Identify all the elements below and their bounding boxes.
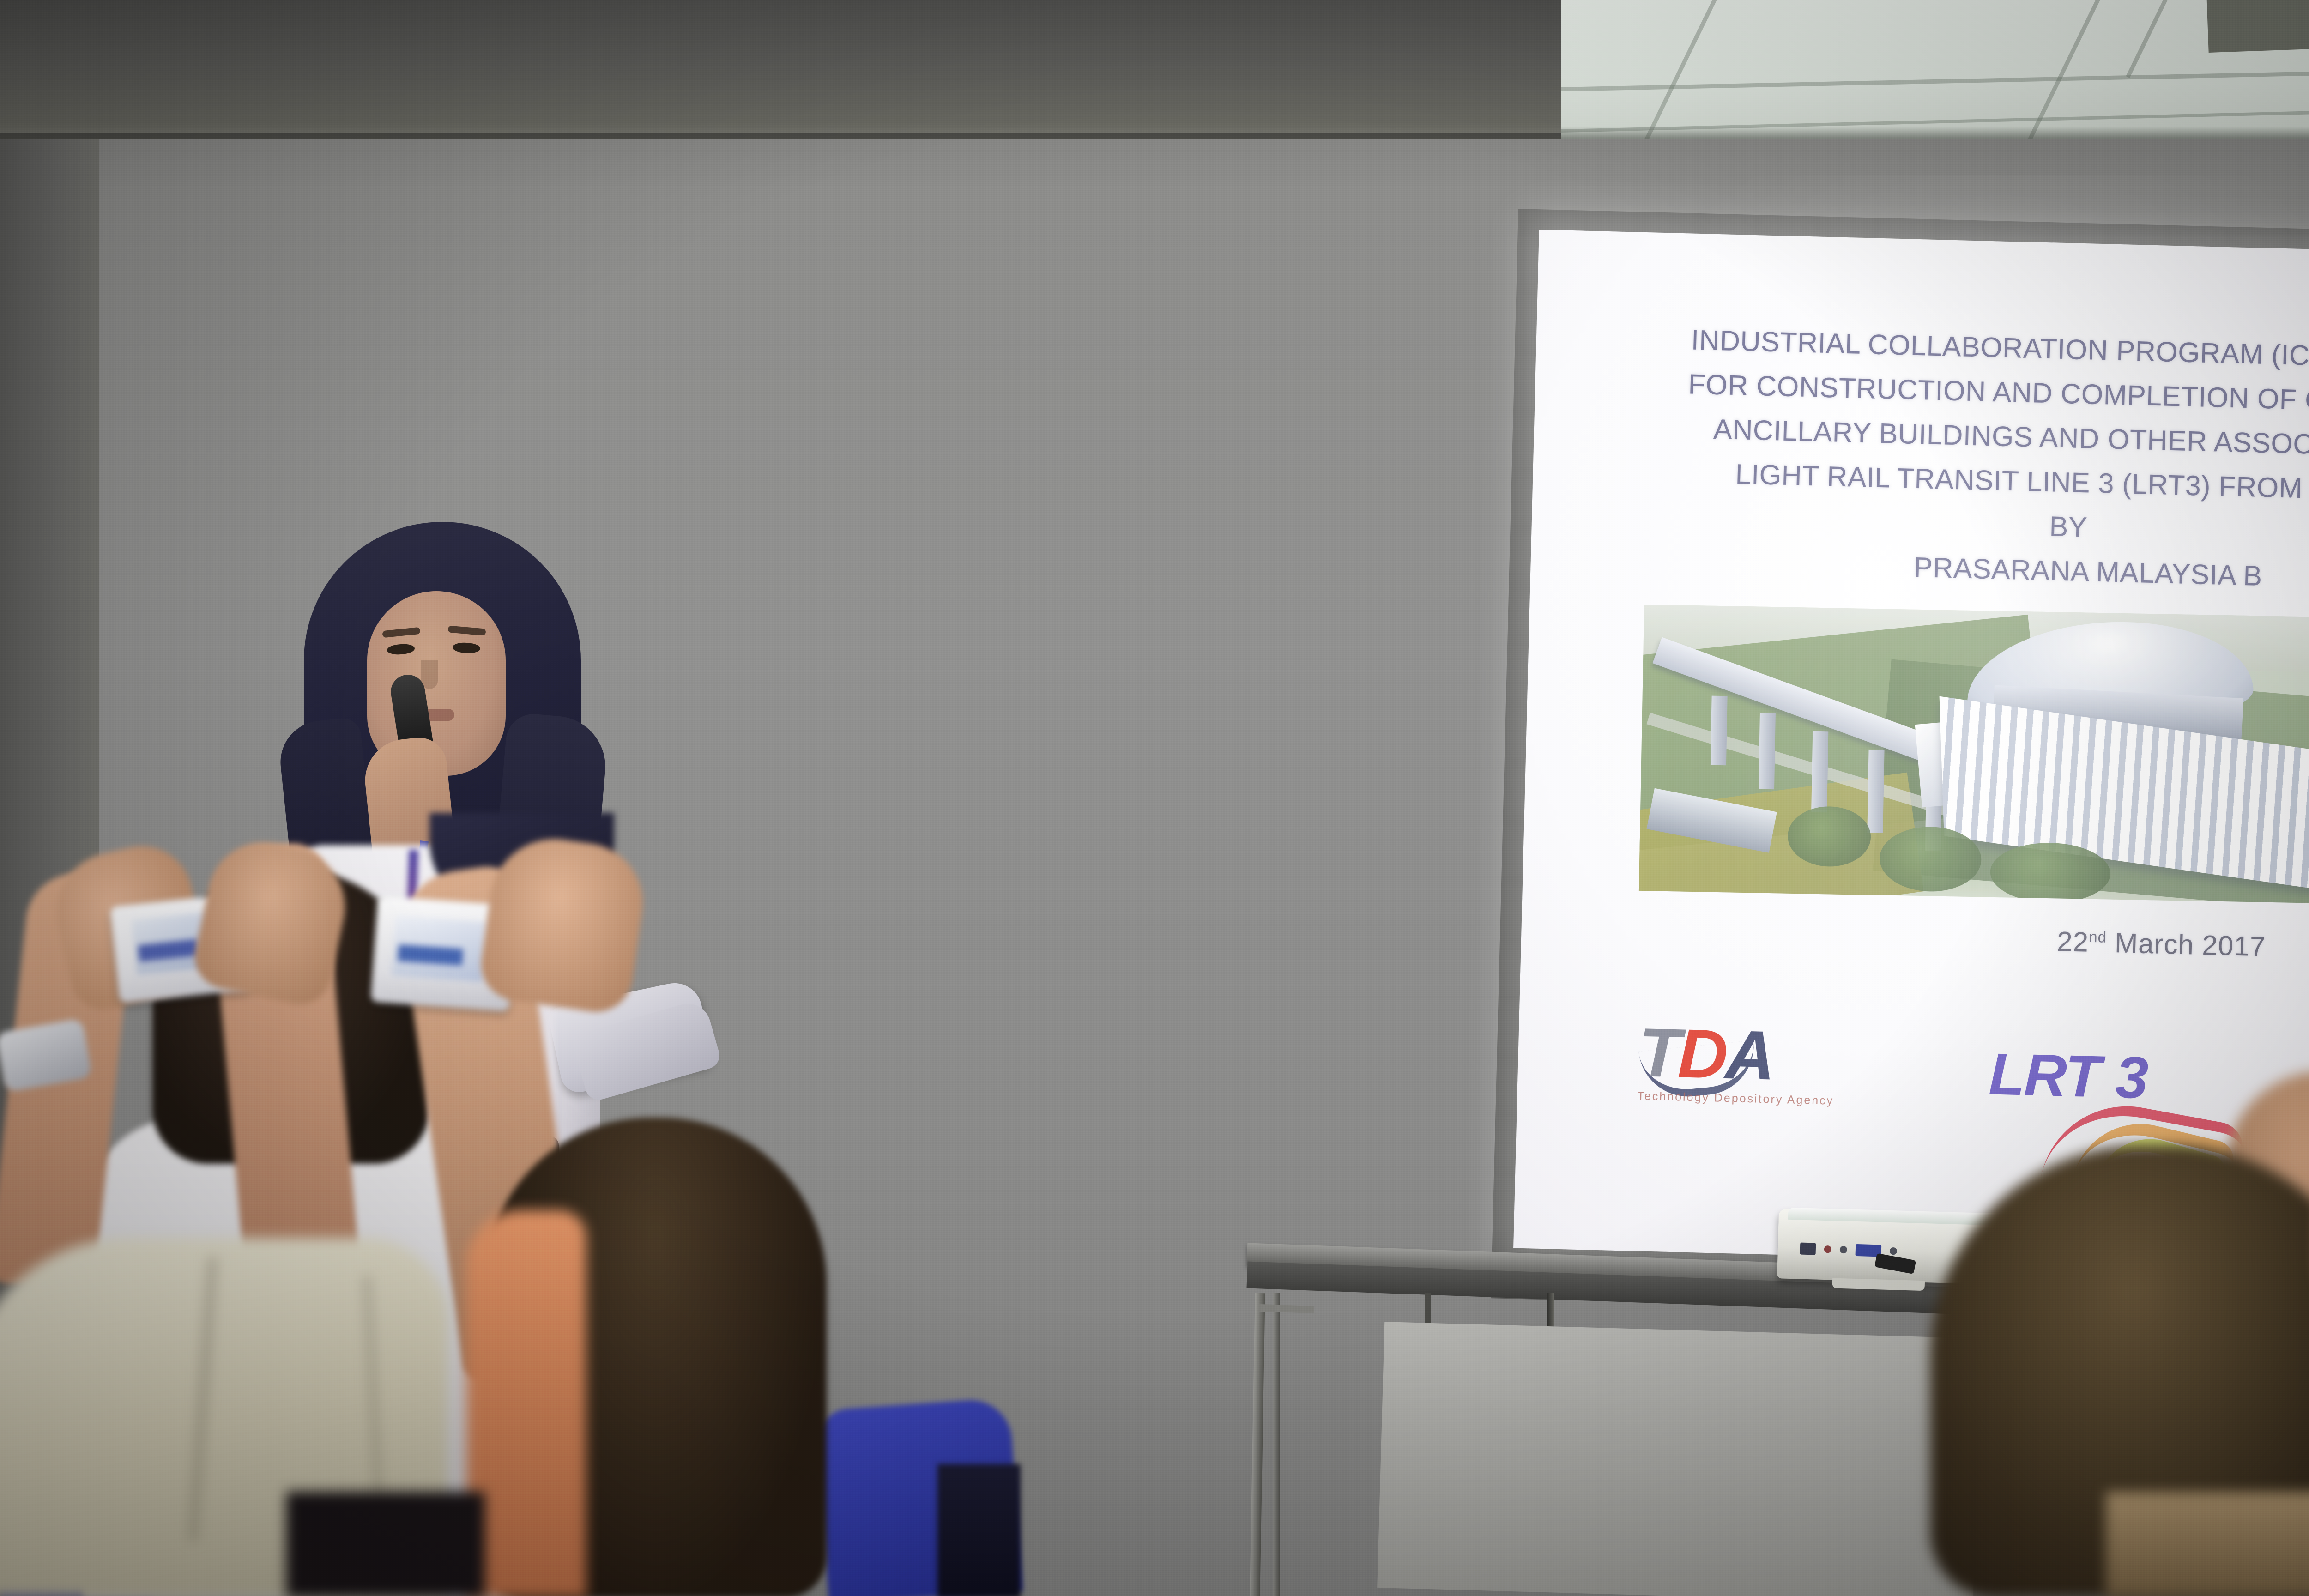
table-leg	[1273, 1293, 1280, 1596]
ceiling-grid-line	[2126, 0, 2182, 78]
projector-audio-port	[1824, 1245, 1831, 1253]
projector-audio-port	[1840, 1246, 1847, 1253]
projector-foot	[1832, 1278, 1925, 1291]
slide-date-ordinal: nd	[2089, 928, 2107, 946]
ceiling-dark-band	[0, 0, 1598, 139]
audience-shadow	[286, 1492, 485, 1596]
projector-hdmi-port	[1800, 1243, 1816, 1255]
presenter-nose	[421, 660, 438, 689]
slide-date-day: 22	[2056, 926, 2089, 958]
slide-title-block: INDUSTRIAL COLLABORATION PROGRAM (ICP) R…	[1530, 314, 2309, 602]
ceiling-grid-line	[1641, 0, 1725, 139]
audience-shoulder	[2106, 1492, 2309, 1596]
suspended-ceiling	[1561, 0, 2309, 139]
chair-frame	[937, 1464, 1021, 1596]
ceiling-grid-line	[1561, 109, 2309, 133]
render-viaduct-pier	[1759, 713, 1776, 790]
table-front-panel	[1377, 1322, 1980, 1596]
ceiling-tile-dark	[2206, 0, 2309, 53]
lrt3-wordmark: LRT 3	[1988, 1045, 2276, 1111]
render-viaduct-pier	[1867, 750, 1884, 833]
render-viaduct-pier	[1711, 696, 1728, 766]
projected-slide: INDUSTRIAL COLLABORATION PROGRAM (ICP) R…	[1513, 230, 2309, 1270]
tda-subtext: Technology Depository Agency	[1637, 1089, 1855, 1108]
slide-date: 22nd March 2017	[2056, 925, 2309, 966]
slide-date-rest: March 2017	[2106, 927, 2266, 962]
tda-wordmark: TDA	[1638, 1017, 1838, 1092]
photo-scene: INDUSTRIAL COLLABORATION PROGRAM (ICP) R…	[0, 0, 2309, 1596]
projector-usb-port	[1890, 1247, 1897, 1255]
render-viaduct-pier	[1811, 731, 1828, 813]
slide-render-image	[1639, 605, 2309, 905]
tda-logo: TDA Technology Depository Agency	[1637, 1017, 1856, 1129]
